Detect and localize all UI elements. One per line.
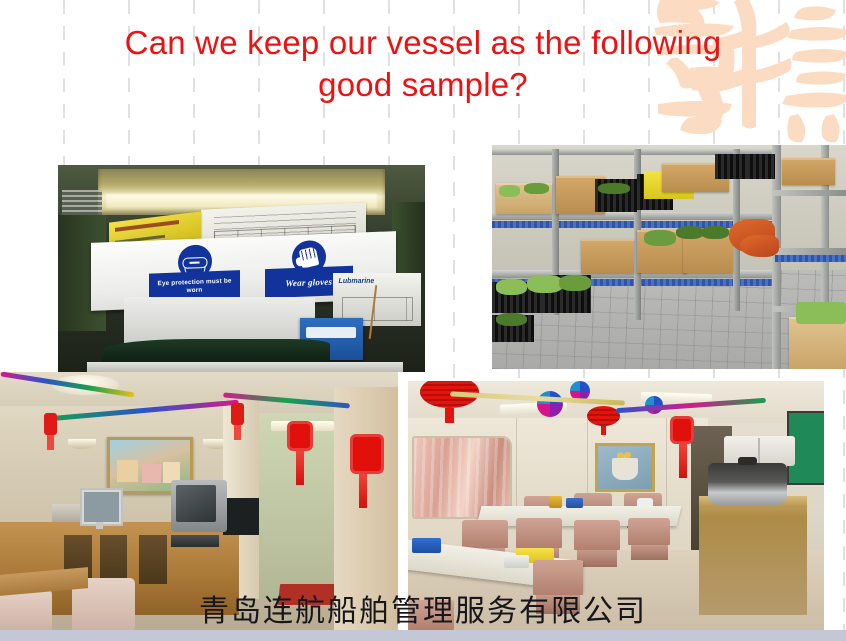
tv-screen: [176, 485, 217, 522]
vegetable-top-3: [598, 183, 630, 194]
photo-store-room: Eye protection must be worn Wear gloves: [58, 165, 425, 372]
wear-gloves-label: Wear gloves: [285, 277, 332, 289]
cabbage-1: [496, 279, 528, 295]
eye-protection-label: Eye protection must be worn: [149, 278, 240, 297]
paper-lantern-mid: [587, 406, 620, 426]
cabinet-door-3: [139, 535, 167, 584]
store-room-scene: Eye protection must be worn Wear gloves: [58, 165, 425, 372]
rice-cooker: [708, 463, 787, 505]
vcr-unit: [171, 535, 219, 548]
chair-mid-4: [628, 518, 670, 545]
melon-1: [644, 230, 676, 246]
crate-top-3: [715, 154, 747, 179]
crew-lounge-scene: [0, 372, 398, 630]
chair-near-1: [533, 560, 583, 595]
melon-3: [701, 226, 729, 239]
painting-shape-b: [142, 464, 161, 483]
blue-tray: [412, 538, 441, 553]
crew-mess-scene: [408, 381, 824, 630]
vegetable-top-1: [499, 185, 520, 196]
photo-crew-mess: [408, 381, 824, 630]
monitor-stand: [96, 522, 104, 530]
safety-sign-eye-protection: Eye protection must be worn: [149, 244, 240, 304]
cabbage-2: [527, 275, 562, 293]
rack-ladder-shelf-blue: [775, 255, 846, 262]
television: [171, 480, 227, 532]
cabbage-3: [559, 275, 591, 291]
rack-ladder-rung-1: [772, 190, 846, 196]
carton-mid-1: [581, 239, 634, 273]
red-hanging-decoration-2: [231, 403, 244, 425]
orange-sack-2: [740, 235, 779, 257]
bottom-status-bar: [0, 630, 846, 641]
photo-provision-store: [492, 145, 846, 369]
chair-mid-1: [462, 520, 508, 547]
slide-title: Can we keep our vessel as the following …: [40, 22, 806, 106]
galley-appliance: [724, 436, 795, 466]
glove-fingers: [301, 248, 316, 261]
chair-mid-3: [574, 520, 620, 550]
vegetable-top-2: [524, 183, 549, 194]
company-name-footer: 青岛连航船舶管理服务有限公司: [0, 594, 846, 630]
blue-box-label: [306, 327, 356, 338]
yellow-package-stripe: [115, 219, 179, 231]
napkin-holder: [504, 555, 529, 567]
leek-bundle: [796, 302, 846, 324]
pinwheel-decoration-1: [537, 391, 563, 417]
chinese-knot-right-wall: [350, 434, 384, 474]
tv-rear-box: [223, 498, 259, 534]
photo-crew-lounge: [0, 372, 398, 630]
monitor-screen: [84, 492, 120, 522]
painting-vase: [612, 458, 638, 480]
white-jug: [637, 498, 654, 508]
crate-top-4: [747, 154, 775, 179]
red-hanging-decoration-1: [44, 413, 57, 435]
white-tray: [87, 362, 403, 372]
condiment-jar: [549, 496, 561, 508]
lubmarine-brand-label: Lubmarine: [339, 278, 375, 285]
provision-store-scene: [492, 145, 846, 369]
chinese-knot-mess: [670, 416, 694, 444]
cabinet-door-2: [100, 535, 128, 581]
computer-monitor: [80, 488, 124, 526]
carton-top-right: [782, 158, 835, 185]
rice-cooker-lid-handle: [738, 457, 757, 465]
chair-mid-2: [516, 518, 562, 548]
carton-floor-right: [789, 317, 846, 369]
blue-container: [566, 498, 583, 508]
cabbage-4: [496, 313, 528, 326]
painting-shape-a: [117, 460, 138, 482]
chinese-knot-corridor: [287, 421, 313, 451]
flower-painting: [595, 443, 655, 491]
slide-canvas: Can we keep our vessel as the following …: [0, 0, 846, 641]
glove-icon: [299, 247, 320, 270]
